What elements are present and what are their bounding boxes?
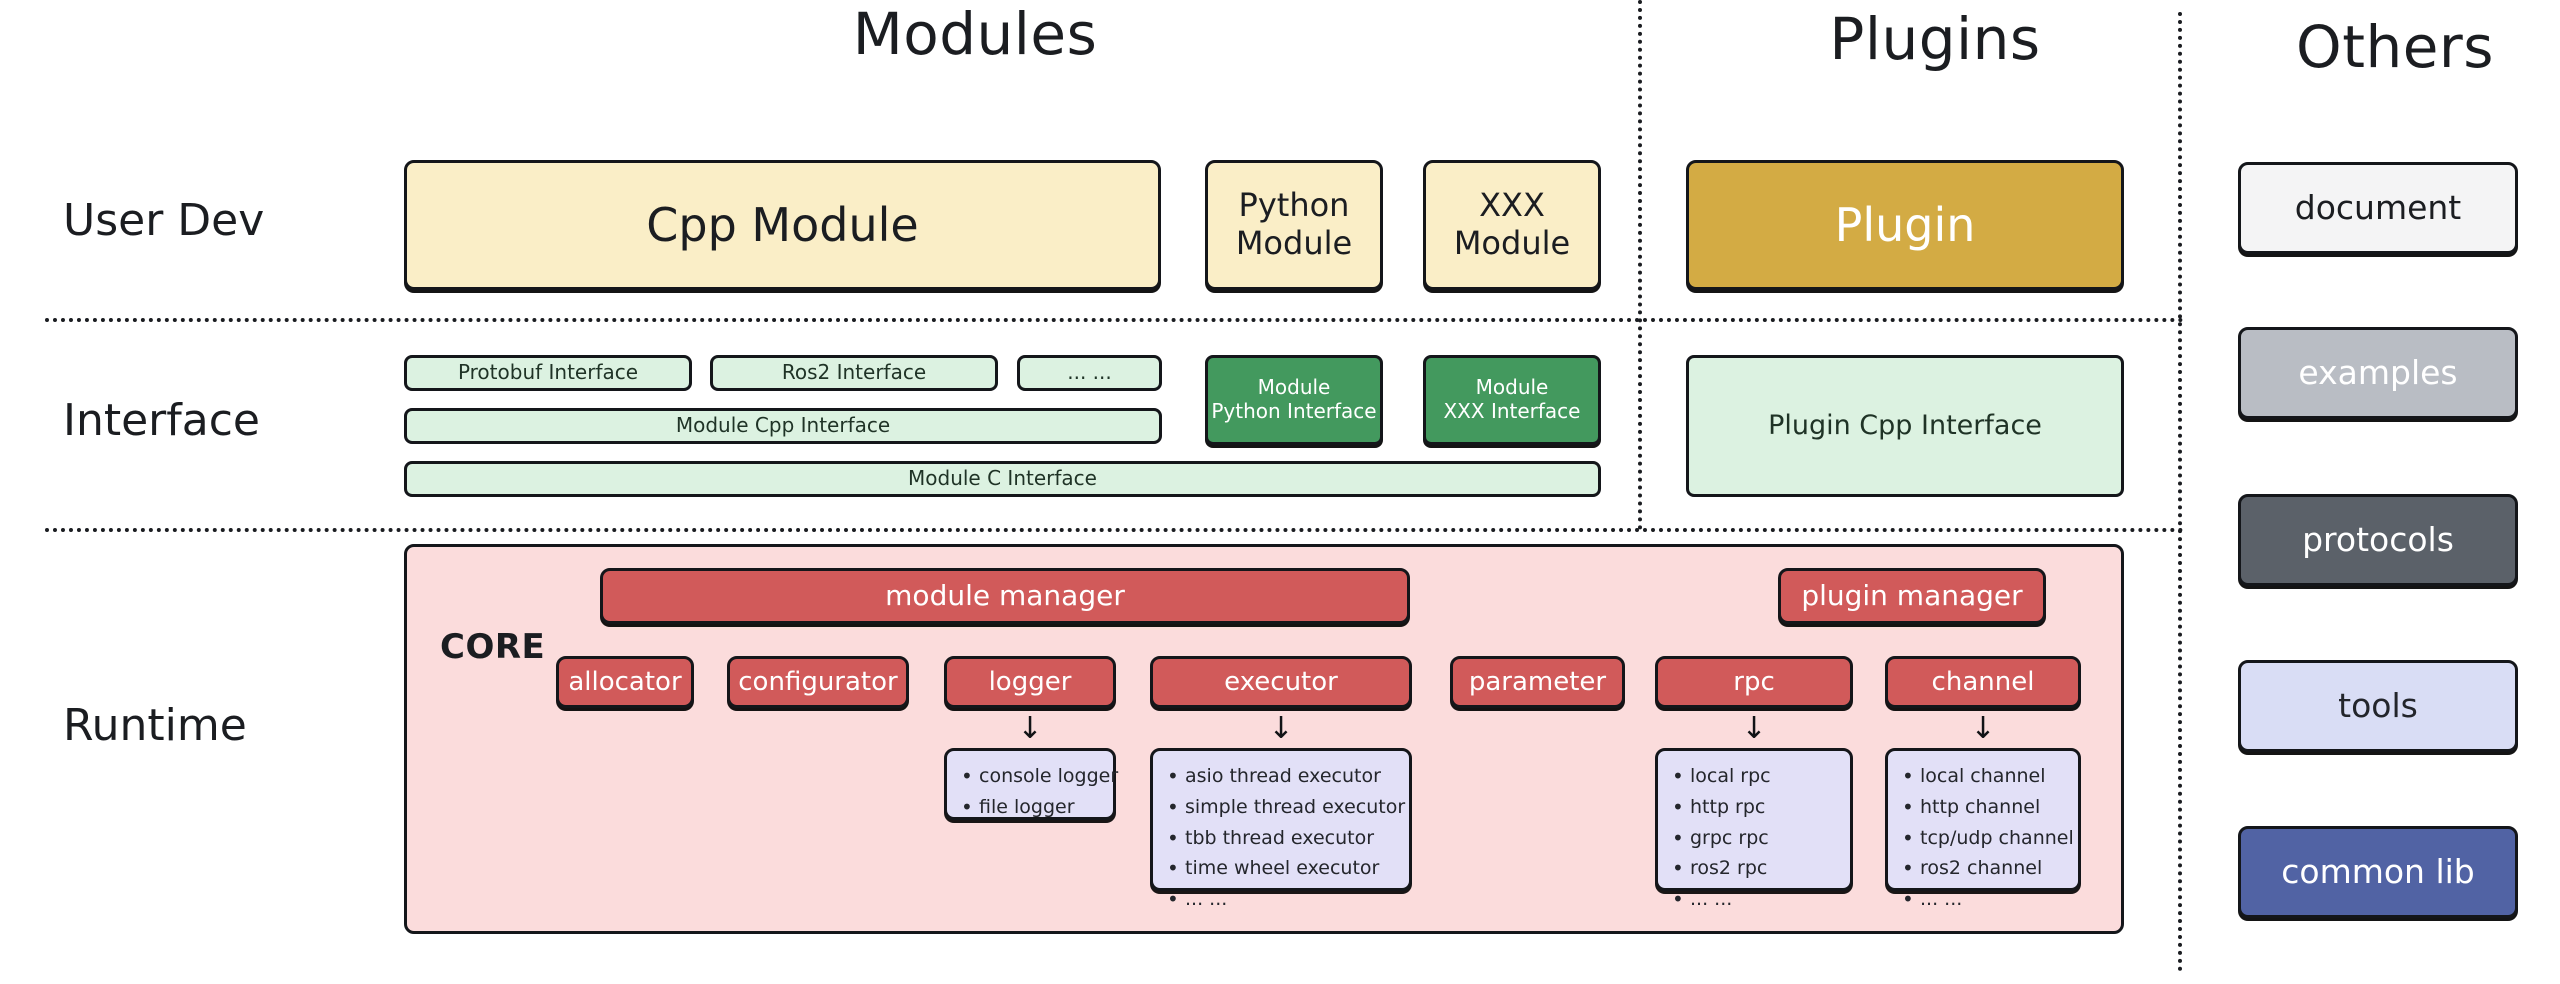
list-item: local rpc: [1690, 761, 1838, 792]
list-item: file logger: [979, 792, 1101, 823]
component-parameter-box[interactable]: parameter: [1450, 656, 1625, 708]
row-label-user-dev: User Dev: [63, 195, 264, 246]
plugin-manager-box[interactable]: plugin manager: [1778, 568, 2046, 624]
rpc-down-arrow-icon: ↓: [1741, 714, 1767, 744]
list-item: time wheel executor: [1185, 853, 1397, 884]
module-python-interface-box[interactable]: Module Python Interface: [1205, 355, 1383, 445]
component-configurator-box[interactable]: configurator: [727, 656, 909, 708]
list-item: ... ...: [1920, 884, 2066, 915]
module-python-interface-line1: Module: [1258, 376, 1331, 400]
list-item: ... ...: [1690, 884, 1838, 915]
xxx-module-label-line1: XXX: [1479, 187, 1545, 225]
list-item: console logger: [979, 761, 1101, 792]
separator-interface-runtime: [45, 528, 2185, 532]
row-label-runtime: Runtime: [63, 700, 247, 751]
others-item-tools[interactable]: tools: [2238, 660, 2518, 752]
module-c-interface-box[interactable]: Module C Interface: [404, 461, 1601, 497]
protobuf-interface-box[interactable]: Protobuf Interface: [404, 355, 692, 391]
module-cpp-interface-box[interactable]: Module Cpp Interface: [404, 408, 1162, 444]
list-item: http channel: [1920, 792, 2066, 823]
component-executor-box[interactable]: executor: [1150, 656, 1412, 708]
python-module-label-line2: Module: [1236, 225, 1352, 263]
component-rpc-box[interactable]: rpc: [1655, 656, 1853, 708]
row-label-interface: Interface: [63, 395, 260, 446]
column-title-others: Others: [2230, 13, 2560, 81]
list-item: http rpc: [1690, 792, 1838, 823]
list-item: ros2 rpc: [1690, 853, 1838, 884]
column-title-plugins: Plugins: [1700, 5, 2170, 73]
module-xxx-interface-line1: Module: [1476, 376, 1549, 400]
cpp-module-box[interactable]: Cpp Module: [404, 160, 1161, 290]
list-item: local channel: [1920, 761, 2066, 792]
others-item-common-lib[interactable]: common lib: [2238, 826, 2518, 918]
xxx-module-box[interactable]: XXX Module: [1423, 160, 1601, 290]
list-item: ros2 channel: [1920, 853, 2066, 884]
core-label: CORE: [440, 627, 545, 667]
component-channel-box[interactable]: channel: [1885, 656, 2081, 708]
channel-children-box: local channel http channel tcp/udp chann…: [1885, 748, 2081, 891]
separator-modules-plugins: [1638, 0, 1642, 530]
others-item-examples[interactable]: examples: [2238, 327, 2518, 419]
channel-down-arrow-icon: ↓: [1970, 714, 1996, 744]
list-item: simple thread executor: [1185, 792, 1397, 823]
separator-userdev-interface: [45, 318, 2185, 322]
python-module-box[interactable]: Python Module: [1205, 160, 1383, 290]
module-python-interface-line2: Python Interface: [1211, 400, 1376, 424]
architecture-diagram: Modules Plugins Others User Dev Interfac…: [0, 0, 2560, 984]
component-logger-box[interactable]: logger: [944, 656, 1116, 708]
plugin-cpp-interface-box[interactable]: Plugin Cpp Interface: [1686, 355, 2124, 497]
list-item: tcp/udp channel: [1920, 823, 2066, 854]
plugin-box[interactable]: Plugin: [1686, 160, 2124, 290]
executor-children-box: asio thread executor simple thread execu…: [1150, 748, 1412, 891]
module-manager-box[interactable]: module manager: [600, 568, 1410, 624]
more-interface-box[interactable]: ... ...: [1017, 355, 1162, 391]
list-item: grpc rpc: [1690, 823, 1838, 854]
executor-down-arrow-icon: ↓: [1268, 714, 1294, 744]
logger-down-arrow-icon: ↓: [1017, 714, 1043, 744]
others-item-protocols[interactable]: protocols: [2238, 494, 2518, 586]
python-module-label-line1: Python: [1239, 187, 1350, 225]
rpc-children-box: local rpc http rpc grpc rpc ros2 rpc ...…: [1655, 748, 1853, 891]
column-title-modules: Modules: [560, 0, 1390, 68]
list-item: ... ...: [1185, 884, 1397, 915]
logger-children-box: console logger file logger: [944, 748, 1116, 820]
list-item: asio thread executor: [1185, 761, 1397, 792]
xxx-module-label-line2: Module: [1454, 225, 1570, 263]
module-xxx-interface-line2: XXX Interface: [1443, 400, 1580, 424]
others-item-document[interactable]: document: [2238, 162, 2518, 254]
list-item: tbb thread executor: [1185, 823, 1397, 854]
ros2-interface-box[interactable]: Ros2 Interface: [710, 355, 998, 391]
separator-plugins-others: [2178, 12, 2182, 972]
component-allocator-box[interactable]: allocator: [556, 656, 694, 708]
module-xxx-interface-box[interactable]: Module XXX Interface: [1423, 355, 1601, 445]
